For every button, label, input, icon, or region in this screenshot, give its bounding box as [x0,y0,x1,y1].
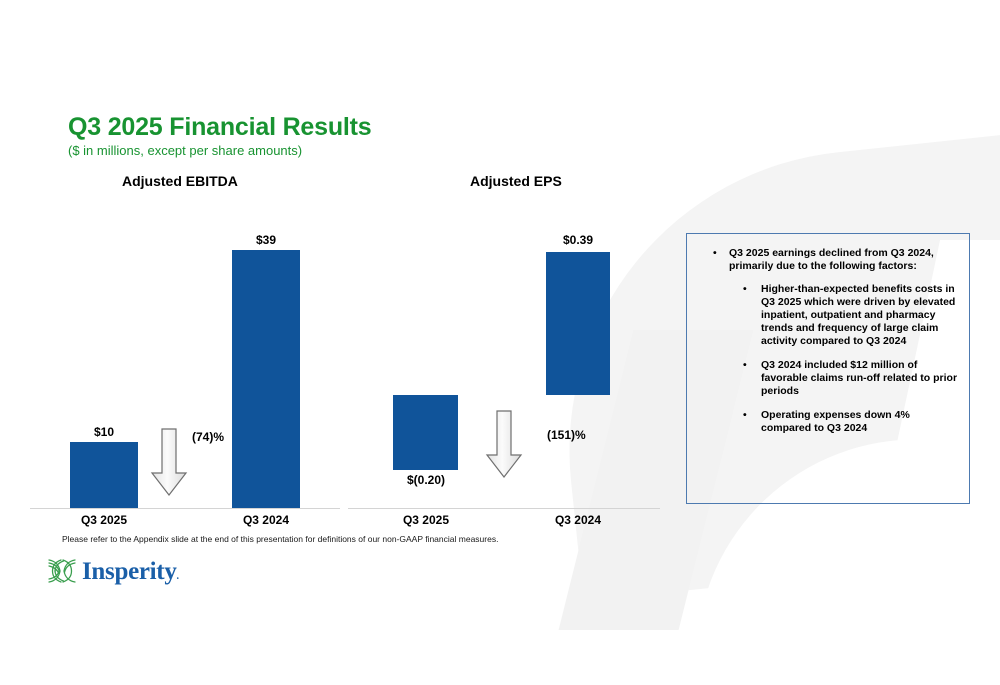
list-item-text: Operating expenses down 4% compared to Q… [761,409,959,435]
list-item: • Q3 2024 included $12 million of favora… [743,359,959,398]
bullet-marker-icon: • [743,409,747,422]
delta-label-eps: (151)% [547,428,586,442]
chart-axis-line [348,508,660,509]
delta-label-ebitda: (74)% [192,430,224,444]
list-item-text: Higher-than-expected benefits costs in Q… [761,283,959,348]
down-arrow-icon-eps [485,410,523,485]
category-label-ebitda-q3-2025: Q3 2025 [70,513,138,527]
commentary-bullet-list: • Q3 2025 earnings declined from Q3 2024… [687,247,969,435]
list-item-text: Q3 2025 earnings declined from Q3 2024, … [729,247,951,273]
category-label-eps-q3-2025: Q3 2025 [386,513,466,527]
bullet-marker-icon: • [713,247,717,260]
insperity-logo: Insperity. [46,556,179,586]
bar-value-eps-q3-2025: $(0.20) [386,473,466,487]
commentary-callout-box: • Q3 2025 earnings declined from Q3 2024… [686,233,970,504]
chart-adjusted-eps: $(0.20) Q3 2025 $0.39 Q3 2024 (151)% [348,225,660,530]
footnote-text: Please refer to the Appendix slide at th… [62,534,498,544]
bar-value-ebitda-q3-2025: $10 [70,425,138,439]
page-title: Q3 2025 Financial Results [68,114,371,140]
category-label-eps-q3-2024: Q3 2024 [546,513,610,527]
bullet-marker-icon: • [743,359,747,372]
chart-title-adjusted-eps: Adjusted EPS [470,173,562,189]
list-item: • Operating expenses down 4% compared to… [743,409,959,435]
trademark-symbol: . [177,571,179,582]
list-item: • Higher-than-expected benefits costs in… [743,283,959,348]
chart-title-adjusted-ebitda: Adjusted EBITDA [122,173,238,189]
title-block: Q3 2025 Financial Results ($ in millions… [68,114,371,158]
down-arrow-icon-ebitda [150,428,188,503]
chart-adjusted-ebitda: $10 Q3 2025 $39 Q3 2024 (74)% [30,225,340,530]
page-subtitle: ($ in millions, except per share amounts… [68,143,371,158]
bar-eps-q3-2025[interactable] [393,395,458,470]
bullet-marker-icon: • [743,283,747,296]
insperity-leaf-mark-icon [46,556,78,586]
bar-value-ebitda-q3-2024: $39 [232,233,300,247]
list-item: • Q3 2025 earnings declined from Q3 2024… [713,247,951,273]
insperity-wordmark: Insperity. [82,559,179,584]
bar-value-eps-q3-2024: $0.39 [546,233,610,247]
bar-ebitda-q3-2025[interactable] [70,442,138,508]
chart-axis-line [30,508,340,509]
list-item-text: Q3 2024 included $12 million of favorabl… [761,359,959,398]
bar-ebitda-q3-2024[interactable] [232,250,300,508]
bar-eps-q3-2024[interactable] [546,252,610,395]
category-label-ebitda-q3-2024: Q3 2024 [232,513,300,527]
